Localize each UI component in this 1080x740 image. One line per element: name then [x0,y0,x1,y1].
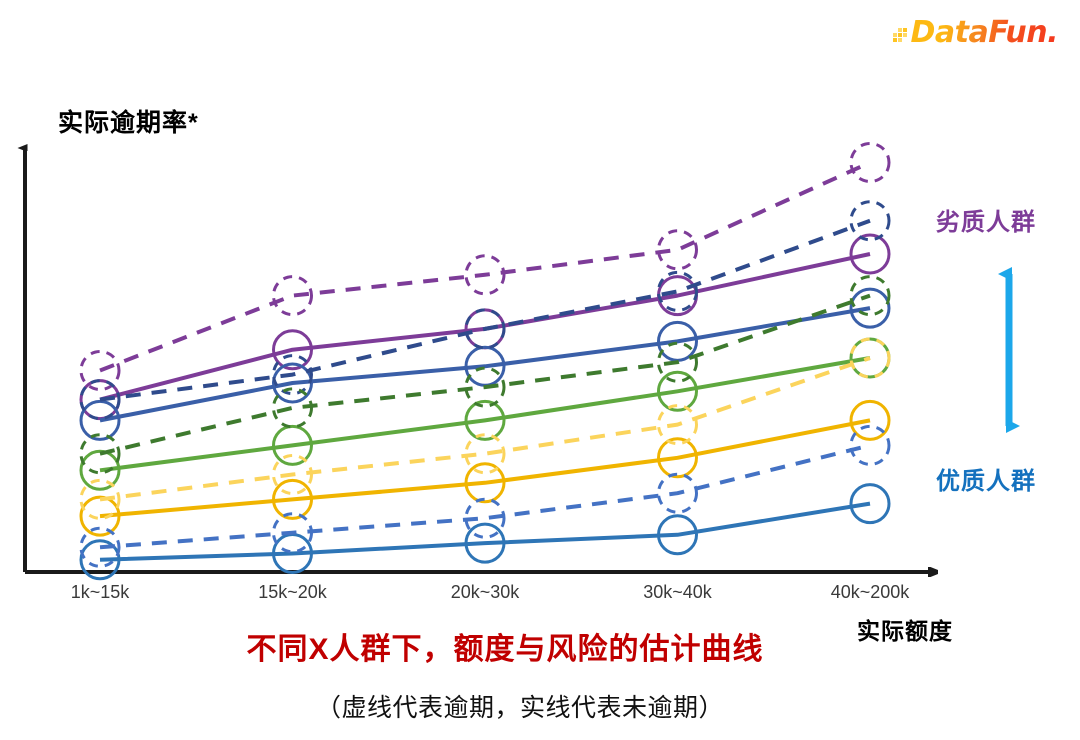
data-point-marker [851,426,889,464]
data-point-marker [851,144,889,182]
data-point-marker [274,514,312,552]
chart-subtitle: （虚线代表逾期，实线代表未逾期） [0,688,1040,724]
data-point-marker [659,231,697,269]
chart-title: 不同X人群下，额度与风险的估计曲线 [0,624,1010,668]
x-tick-label: 30k~40k [643,582,712,603]
data-point-marker [81,381,119,419]
data-point-marker [274,456,312,494]
quality-gradient-arrow-icon [992,250,1026,450]
data-point-marker [659,272,697,310]
chart-series-layer [81,144,889,579]
data-point-marker [659,474,697,512]
data-point-marker [659,343,697,381]
data-point-marker [274,389,312,427]
data-point-marker [466,256,504,294]
data-point-marker [851,235,889,273]
data-point-marker [274,277,312,315]
data-point-marker [851,339,889,377]
data-point-marker [659,406,697,444]
x-tick-label: 15k~20k [258,582,327,603]
annotation-good-population: 优质人群 [936,461,1036,496]
data-point-marker [659,516,697,554]
data-point-marker [466,368,504,406]
data-point-marker [466,310,504,348]
data-point-marker [851,202,889,240]
data-point-marker [81,435,119,473]
data-point-marker [466,499,504,537]
x-tick-label: 20k~30k [451,582,520,603]
data-point-marker [81,528,119,566]
data-point-marker [466,435,504,473]
data-point-marker [851,277,889,315]
data-point-marker [659,439,697,477]
data-point-marker [81,480,119,518]
data-point-marker [851,485,889,523]
x-tick-label: 1k~15k [71,582,130,603]
annotation-bad-population: 劣质人群 [936,202,1036,237]
x-tick-label: 40k~200k [831,582,910,603]
y-axis-title: 实际逾期率* [58,103,199,139]
